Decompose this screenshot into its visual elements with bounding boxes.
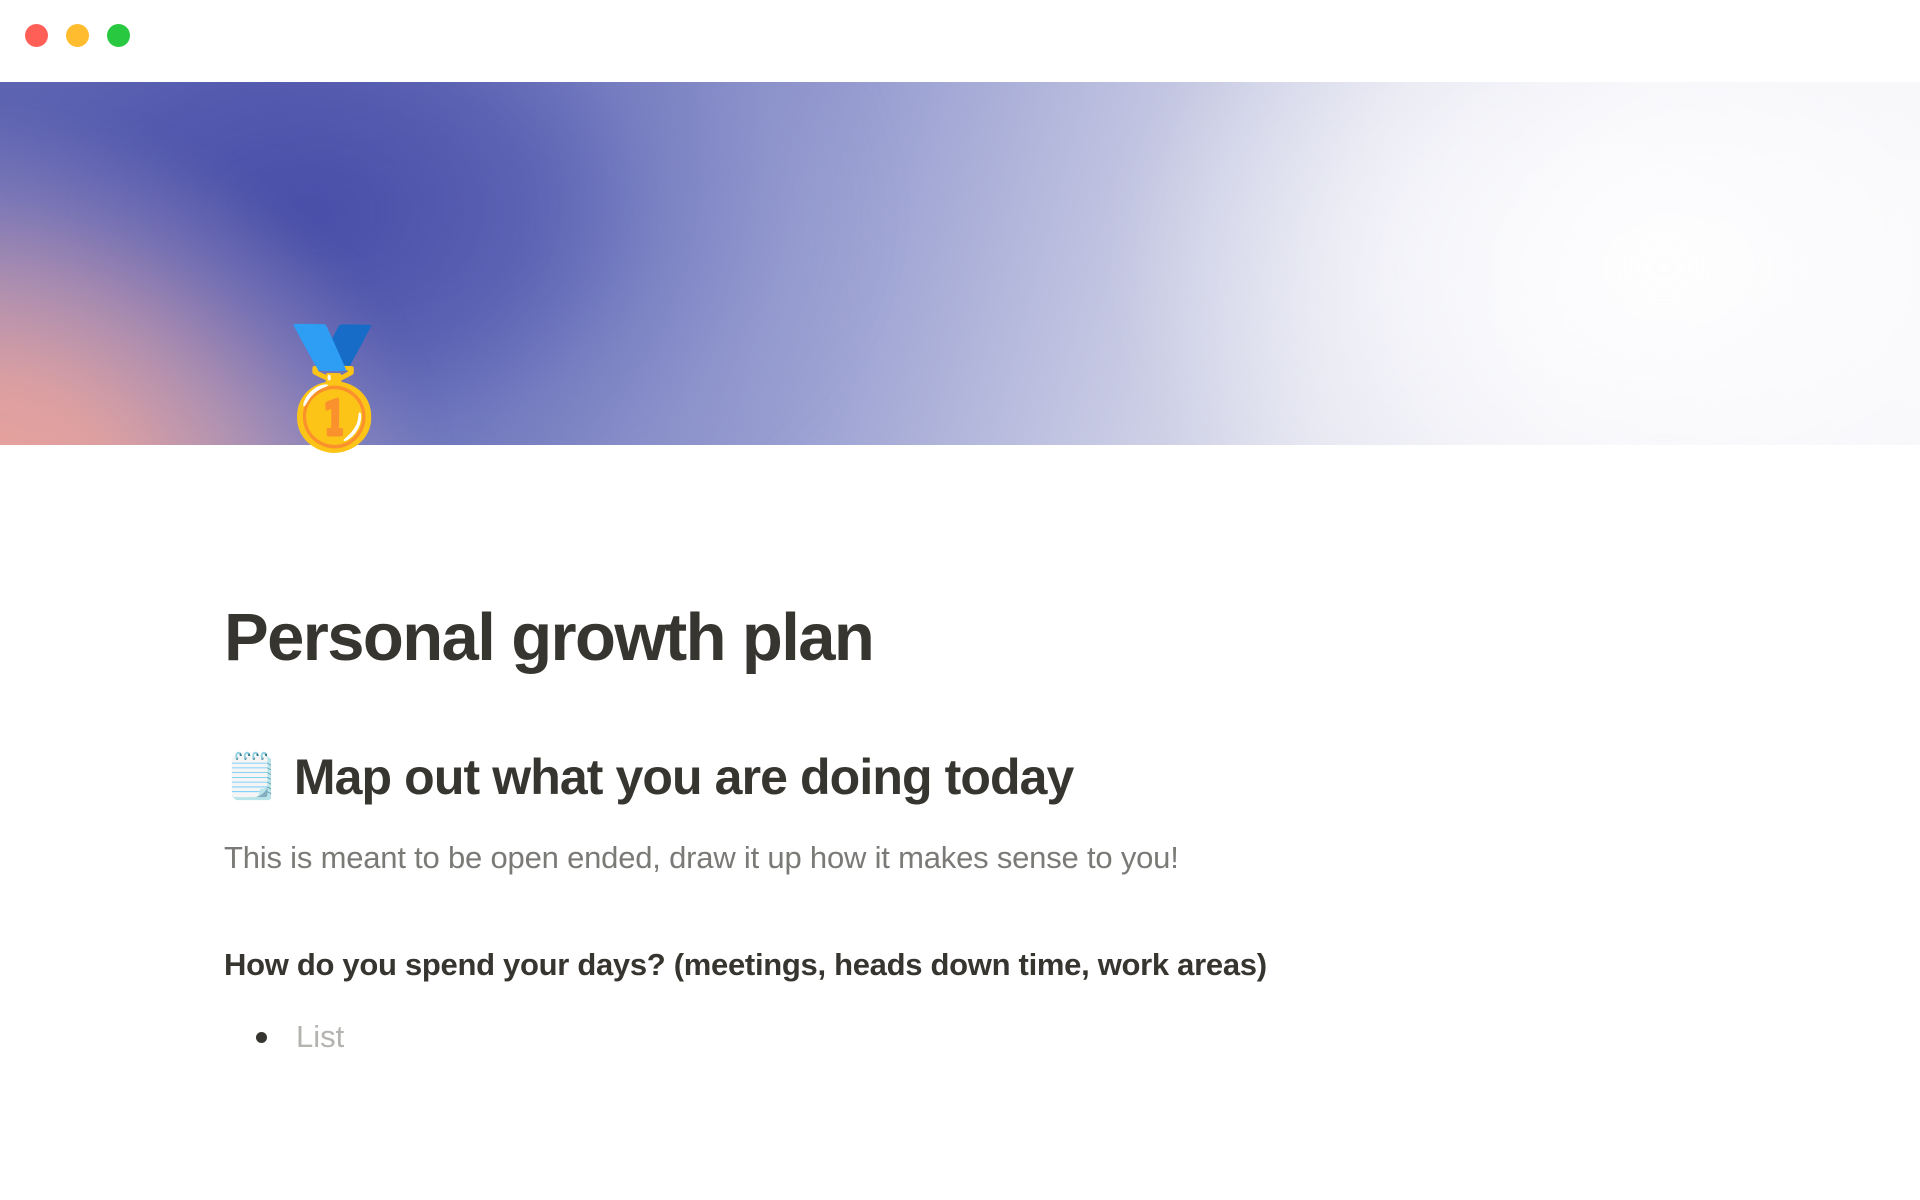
page-title[interactable]: Personal growth plan [224,600,1704,675]
question-prompt[interactable]: How do you spend your days? (meetings, h… [224,942,1704,989]
app-window: 🥇 Personal growth plan 🗒️ Map out what y… [0,0,1920,1200]
section-description[interactable]: This is meant to be open ended, draw it … [224,835,1704,882]
maximize-window-button[interactable] [107,24,130,47]
section-heading-label: Map out what you are doing today [294,747,1074,807]
spiral-notepad-icon: 🗒️ [224,755,278,799]
list-item[interactable]: List [224,1014,1704,1061]
list-item-label: List [296,1014,344,1061]
section-heading[interactable]: 🗒️ Map out what you are doing today [224,747,1704,807]
traffic-light-controls [25,24,130,47]
page-body: 🥇 Personal growth plan 🗒️ Map out what y… [0,0,1920,1200]
close-window-button[interactable] [25,24,48,47]
window-titlebar [0,0,1920,82]
gold-medal-icon[interactable]: 🥇 [262,330,406,446]
bullet-dot-icon [256,1032,267,1043]
page-content: Personal growth plan 🗒️ Map out what you… [224,600,1704,1061]
minimize-window-button[interactable] [66,24,89,47]
bulleted-list: List [224,1014,1704,1061]
